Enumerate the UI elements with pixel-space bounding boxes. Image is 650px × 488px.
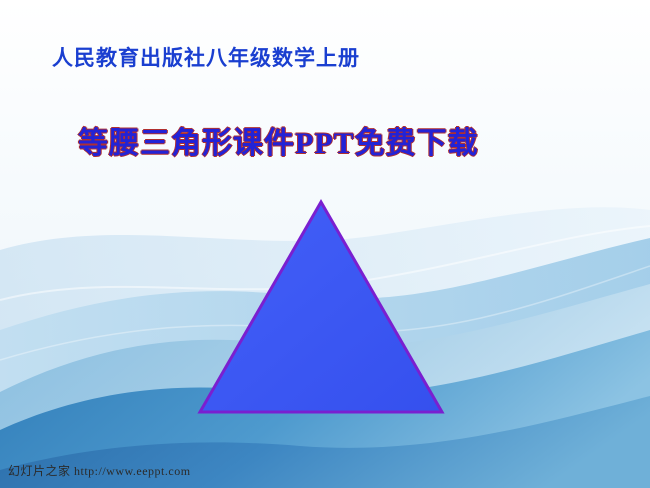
slide-subtitle: 人民教育出版社八年级数学上册 <box>52 42 360 72</box>
isosceles-triangle-icon <box>196 198 446 416</box>
isosceles-triangle-figure <box>196 198 446 416</box>
slide-title: 等腰三角形课件PPT免费下载 <box>78 118 479 162</box>
presentation-slide: 人民教育出版社八年级数学上册 等腰三角形课件PPT免费下载 幻灯片之家 http… <box>0 0 650 488</box>
site-watermark: 幻灯片之家 http://www.eeppt.com <box>8 462 191 479</box>
